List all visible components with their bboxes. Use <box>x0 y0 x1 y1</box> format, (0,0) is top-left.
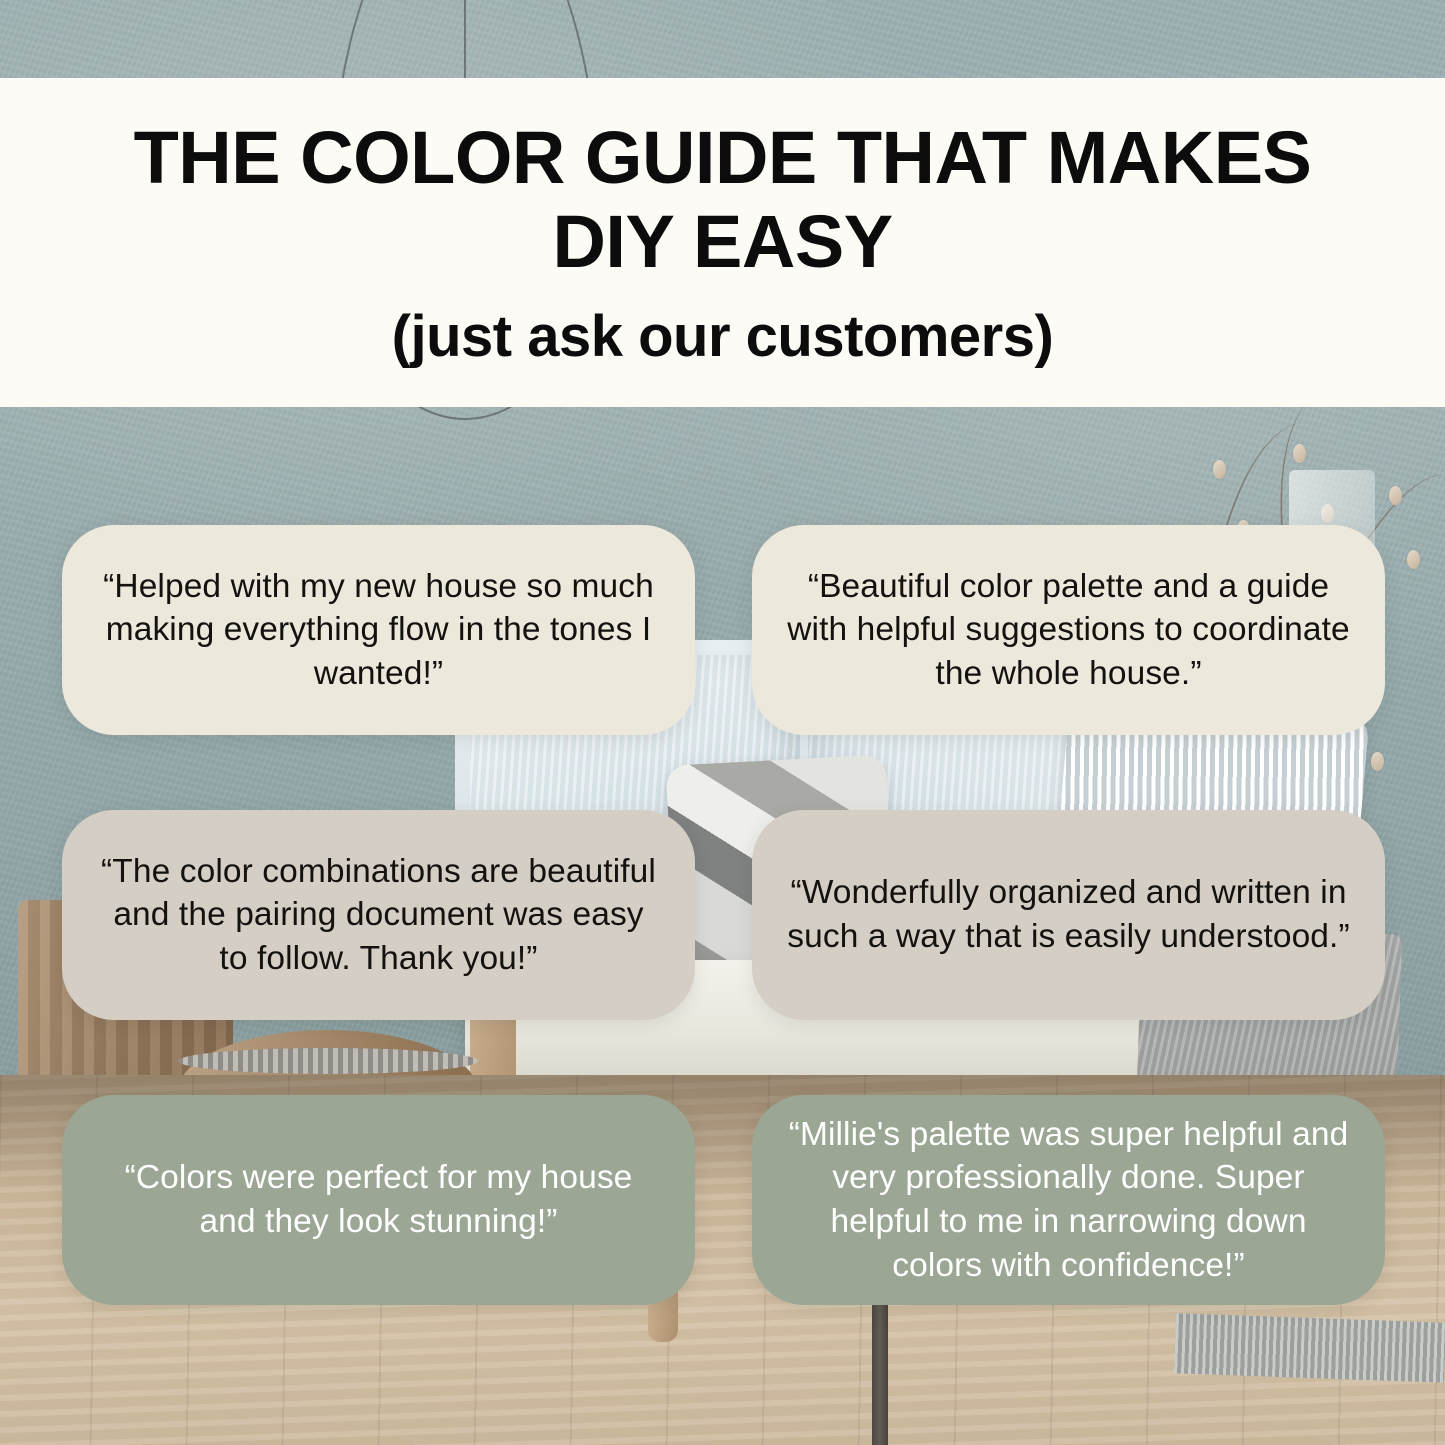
testimonial-quote: “Colors were perfect for my house and th… <box>96 1156 661 1243</box>
testimonial-card: “Helped with my new house so much making… <box>62 525 695 735</box>
testimonial-quote: “Beautiful color palette and a guide wit… <box>786 565 1351 696</box>
testimonial-grid: “Helped with my new house so much making… <box>0 0 1445 1445</box>
testimonial-card: “Millie's palette was super helpful and … <box>752 1095 1385 1305</box>
testimonial-card: “Beautiful color palette and a guide wit… <box>752 525 1385 735</box>
testimonial-poster: THE COLOR GUIDE THAT MAKES DIY EASY (jus… <box>0 0 1445 1445</box>
testimonial-card: “Wonderfully organized and written in su… <box>752 810 1385 1020</box>
testimonial-quote: “The color combinations are beautiful an… <box>96 850 661 981</box>
testimonial-card: “Colors were perfect for my house and th… <box>62 1095 695 1305</box>
testimonial-quote: “Millie's palette was super helpful and … <box>786 1113 1351 1287</box>
testimonial-card: “The color combinations are beautiful an… <box>62 810 695 1020</box>
testimonial-quote: “Wonderfully organized and written in su… <box>786 871 1351 958</box>
testimonial-quote: “Helped with my new house so much making… <box>96 565 661 696</box>
